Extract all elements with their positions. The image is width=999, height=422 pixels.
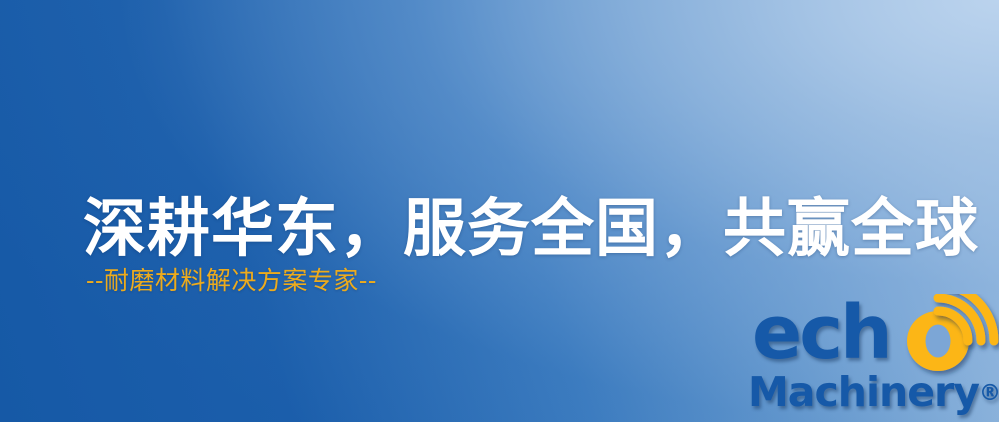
company-logo: ech Machinery®: [742, 294, 999, 422]
logo-wordmark-echo: ech: [752, 296, 890, 370]
banner-headline: 深耕华东，服务全国，共赢全球: [83, 194, 979, 262]
logo-wordmark-machinery: Machinery®: [748, 372, 999, 413]
banner-subtitle: --耐磨材料解决方案专家--: [86, 266, 377, 296]
logo-machinery-text: Machinery: [748, 368, 979, 416]
registered-trademark-icon: ®: [979, 381, 999, 406]
promo-banner: 深耕华东，服务全国，共赢全球 --耐磨材料解决方案专家-- ech: [0, 0, 999, 422]
